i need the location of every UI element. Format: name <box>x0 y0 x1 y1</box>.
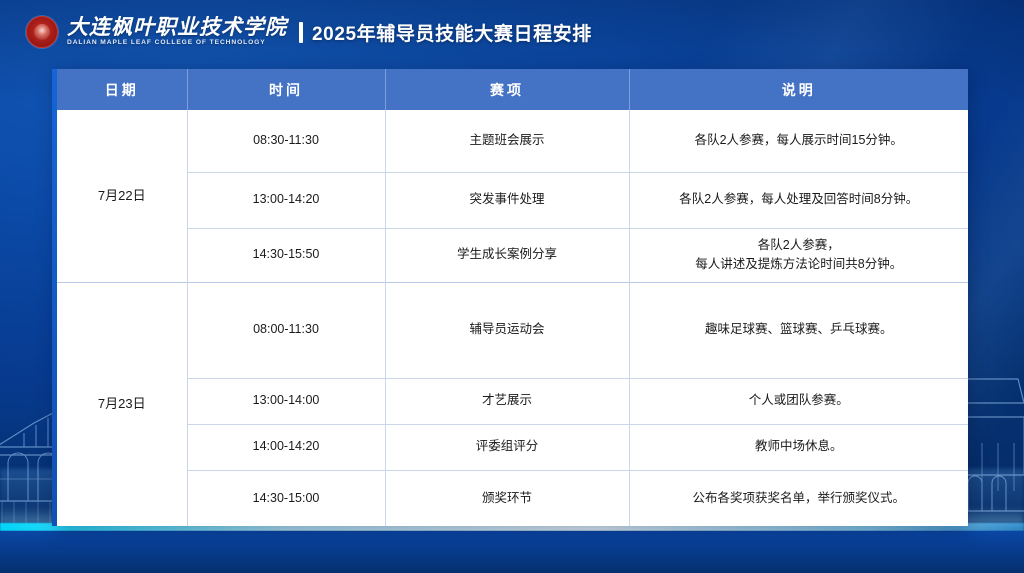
cell-date: 7月22日 <box>57 110 187 282</box>
table-row: 14:30-15:00颁奖环节公布各奖项获奖名单，举行颁奖仪式。 <box>57 470 968 526</box>
cell-description: 各队2人参赛，每人处理及回答时间8分钟。 <box>629 172 968 228</box>
cell-event: 学生成长案例分享 <box>385 228 629 282</box>
table-row: 13:00-14:20突发事件处理各队2人参赛，每人处理及回答时间8分钟。 <box>57 172 968 228</box>
table-row: 14:30-15:50学生成长案例分享各队2人参赛，每人讲述及提炼方法论时间共8… <box>57 228 968 282</box>
table-row: 13:00-14:00才艺展示个人或团队参赛。 <box>57 378 968 424</box>
description-line: 个人或团队参赛。 <box>638 391 961 410</box>
schedule-table-container: 日期 时间 赛项 说明 7月22日08:30-11:30主题班会展示各队2人参赛… <box>57 69 968 526</box>
column-header-date: 日期 <box>57 69 187 110</box>
column-header-time: 时间 <box>187 69 385 110</box>
cell-event: 主题班会展示 <box>385 110 629 172</box>
slide-canvas: 大连枫叶职业技术学院DALIAN MAPLE LEAF COLLEGE OF T… <box>0 0 1024 573</box>
cell-description: 教师中场休息。 <box>629 424 968 470</box>
description-line: 各队2人参赛，每人处理及回答时间8分钟。 <box>638 190 961 209</box>
cell-time: 13:00-14:00 <box>187 378 385 424</box>
table-header-row: 日期 时间 赛项 说明 <box>57 69 968 110</box>
column-header-desc: 说明 <box>629 69 968 110</box>
table-body: 7月22日08:30-11:30主题班会展示各队2人参赛，每人展示时间15分钟。… <box>57 110 968 526</box>
university-seal-icon <box>26 16 58 48</box>
slide-header: 大连枫叶职业技术学院DALIAN MAPLE LEAF COLLEGE OF T… <box>0 0 592 64</box>
university-name-cn: 大连枫叶职业技术学院DALIAN MAPLE LEAF COLLEGE OF T… <box>67 17 287 47</box>
cell-event: 辅导员运动会 <box>385 282 629 378</box>
cell-time: 08:00-11:30 <box>187 282 385 378</box>
cell-event: 突发事件处理 <box>385 172 629 228</box>
description-line: 各队2人参赛， <box>638 236 961 255</box>
cell-time: 13:00-14:20 <box>187 172 385 228</box>
cell-time: 08:30-11:30 <box>187 110 385 172</box>
cell-date: 7月23日 <box>57 282 187 526</box>
cell-event: 评委组评分 <box>385 424 629 470</box>
table-row: 14:00-14:20评委组评分教师中场休息。 <box>57 424 968 470</box>
cell-description: 各队2人参赛，每人展示时间15分钟。 <box>629 110 968 172</box>
cell-event: 才艺展示 <box>385 378 629 424</box>
table-row: 7月22日08:30-11:30主题班会展示各队2人参赛，每人展示时间15分钟。 <box>57 110 968 172</box>
cell-description: 个人或团队参赛。 <box>629 378 968 424</box>
description-line: 教师中场休息。 <box>638 437 961 456</box>
column-header-event: 赛项 <box>385 69 629 110</box>
cell-description: 各队2人参赛，每人讲述及提炼方法论时间共8分钟。 <box>629 228 968 282</box>
cell-time: 14:30-15:00 <box>187 470 385 526</box>
description-line: 公布各奖项获奖名单，举行颁奖仪式。 <box>638 489 961 508</box>
cell-event: 颁奖环节 <box>385 470 629 526</box>
bottom-band <box>0 531 1024 573</box>
cell-description: 趣味足球赛、篮球赛、乒乓球赛。 <box>629 282 968 378</box>
table-left-accent <box>52 69 57 526</box>
page-title: 2025年辅导员技能大赛日程安排 <box>312 19 592 46</box>
table-head: 日期 时间 赛项 说明 <box>57 69 968 110</box>
description-line: 每人讲述及提炼方法论时间共8分钟。 <box>638 255 961 274</box>
schedule-table: 日期 时间 赛项 说明 7月22日08:30-11:30主题班会展示各队2人参赛… <box>57 69 968 526</box>
description-line: 各队2人参赛，每人展示时间15分钟。 <box>638 131 961 150</box>
university-name-en: DALIAN MAPLE LEAF COLLEGE OF TECHNOLOGY <box>67 40 291 47</box>
description-line: 趣味足球赛、篮球赛、乒乓球赛。 <box>638 320 961 339</box>
cell-time: 14:00-14:20 <box>187 424 385 470</box>
title-divider <box>299 22 303 43</box>
cell-description: 公布各奖项获奖名单，举行颁奖仪式。 <box>629 470 968 526</box>
table-row: 7月23日08:00-11:30辅导员运动会趣味足球赛、篮球赛、乒乓球赛。 <box>57 282 968 378</box>
cell-time: 14:30-15:50 <box>187 228 385 282</box>
